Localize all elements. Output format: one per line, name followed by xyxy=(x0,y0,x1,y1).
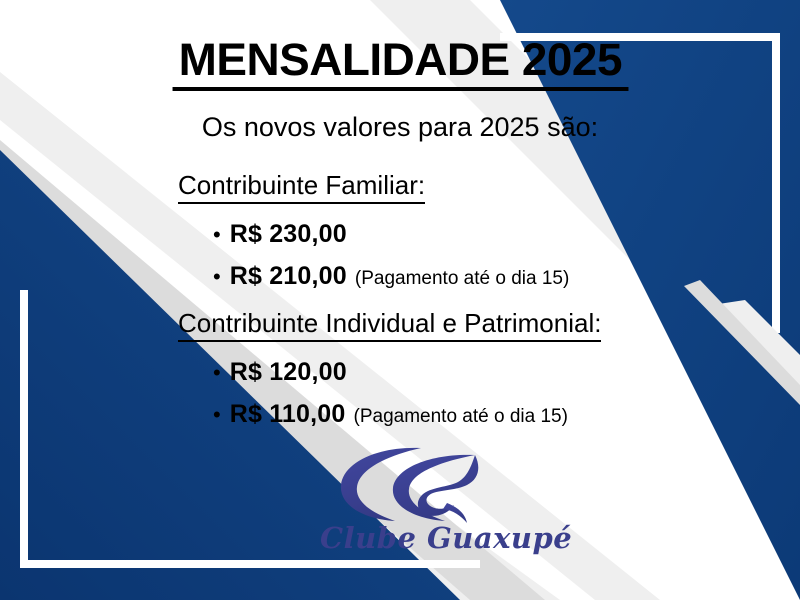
price-list: • R$ 120,00 • R$ 110,00 (Pagamento até o… xyxy=(178,358,601,429)
club-logo: Clube Guaxupé xyxy=(320,443,520,568)
section-heading: Contribuinte Familiar: xyxy=(178,170,425,204)
page-title-wrapper: MENSALIDADE 2025 xyxy=(0,36,800,91)
price-amount: R$ 230,00 xyxy=(230,220,347,249)
list-item: • R$ 120,00 xyxy=(213,358,601,387)
price-list: • R$ 230,00 • R$ 210,00 (Pagamento até o… xyxy=(178,220,569,291)
section-contribuinte-individual-patrimonial: Contribuinte Individual e Patrimonial: •… xyxy=(178,308,601,429)
section-heading: Contribuinte Individual e Patrimonial: xyxy=(178,308,601,342)
logo-wordmark: Clube Guaxupé xyxy=(320,521,520,555)
slide-canvas: MENSALIDADE 2025 Os novos valores para 2… xyxy=(0,0,800,600)
bullet-icon: • xyxy=(213,266,221,288)
list-item: • R$ 110,00 (Pagamento até o dia 15) xyxy=(213,400,601,429)
price-amount: R$ 110,00 xyxy=(230,400,346,429)
page-subtitle: Os novos valores para 2025 são: xyxy=(0,112,800,143)
list-item: • R$ 230,00 xyxy=(213,220,569,249)
price-amount: R$ 120,00 xyxy=(230,358,347,387)
section-contribuinte-familiar: Contribuinte Familiar: • R$ 230,00 • R$ … xyxy=(178,170,569,291)
bullet-icon: • xyxy=(213,362,221,384)
price-amount: R$ 210,00 xyxy=(230,262,347,291)
price-note: (Pagamento até o dia 15) xyxy=(354,406,568,428)
bullet-icon: • xyxy=(213,224,221,246)
slide-content: MENSALIDADE 2025 Os novos valores para 2… xyxy=(0,0,800,600)
page-title: MENSALIDADE 2025 xyxy=(172,36,628,91)
list-item: • R$ 210,00 (Pagamento até o dia 15) xyxy=(213,262,569,291)
price-note: (Pagamento até o dia 15) xyxy=(355,268,569,290)
clube-guaxupe-swoosh-icon xyxy=(325,443,515,525)
bullet-icon: • xyxy=(213,404,221,426)
